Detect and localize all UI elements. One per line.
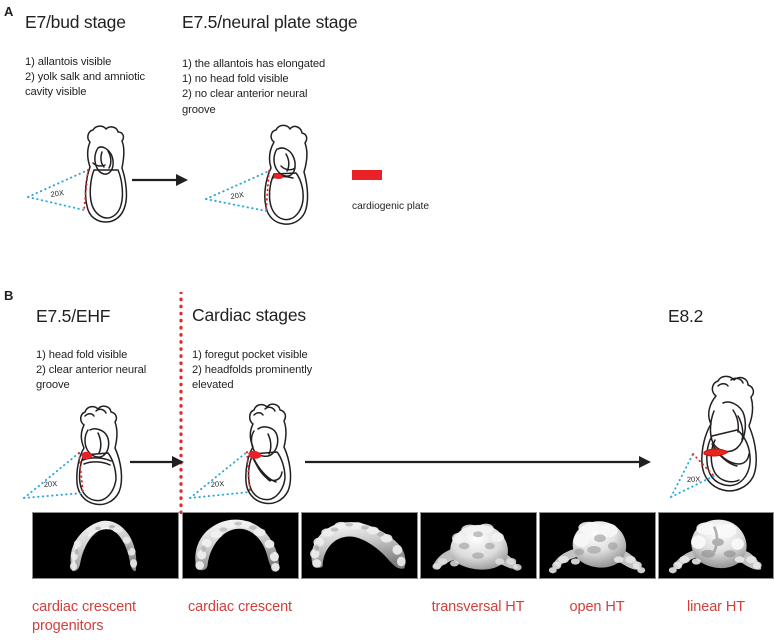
cardiogenic-plate-swatch	[352, 170, 382, 180]
micrograph-label-4: transversal HT	[432, 598, 525, 617]
micrograph-image-3	[302, 513, 417, 578]
magnification-label-b1: 20X	[44, 479, 58, 489]
cardiogenic-plate-marker-embryo-b2	[249, 451, 261, 458]
micrograph-panel-5[interactable]	[539, 512, 656, 579]
panel-b-stage-title-2: Cardiac stages	[192, 305, 306, 326]
panel-b-stage-title-1: E7.5/EHF	[36, 306, 110, 327]
panel-letter-b: B	[4, 288, 13, 303]
panel-a-notes-2: 1) the allantois has elongated 1) no hea…	[182, 57, 357, 118]
embryo-diagram-e82: 20X	[638, 366, 774, 511]
micrograph-label-5: open HT	[570, 598, 625, 617]
micrograph-panel-3[interactable]	[301, 512, 418, 579]
cardiogenic-plate-legend-label: cardiogenic plate	[352, 201, 429, 212]
arrow-b-1	[128, 452, 186, 472]
embryo-diagram-e75-neural-plate: 20X	[198, 118, 378, 233]
micrograph-image-1	[33, 513, 178, 578]
magnification-label-b2: 20X	[211, 479, 225, 489]
figure-canvas: A E7/bud stage E7.5/neural plate stage 1…	[0, 0, 774, 640]
micrograph-panel-4[interactable]	[420, 512, 537, 579]
panel-a-notes-1: 1) allantois visible 2) yolk salk and am…	[25, 55, 175, 101]
magnification-label-a1: 20X	[50, 188, 65, 199]
panel-b-stage-title-3: E8.2	[668, 306, 703, 327]
micrograph-image-5	[540, 513, 655, 578]
panel-a-stage-title-2: E7.5/neural plate stage	[182, 12, 357, 33]
magnification-label-b3: 20X	[687, 475, 701, 484]
panel-b-notes-1: 1) head fold visible 2) clear anterior n…	[36, 348, 186, 394]
micrograph-image-4	[421, 513, 536, 578]
linear-heart-tube-marker	[704, 449, 728, 456]
micrograph-image-2	[183, 513, 298, 578]
micrograph-label-2: cardiac crescent	[188, 598, 292, 617]
micrograph-panel-6[interactable]	[658, 512, 774, 579]
micrograph-label-6: linear HT	[687, 598, 745, 617]
arrow-b-2-long	[303, 452, 653, 472]
arrow-a-1	[130, 170, 190, 190]
micrograph-image-6	[659, 513, 773, 578]
magnification-label-a2: 20X	[230, 190, 245, 201]
micrograph-panel-1[interactable]	[32, 512, 179, 579]
micrograph-label-1: cardiac crescent progenitors	[32, 598, 136, 636]
micrograph-panel-2[interactable]	[182, 512, 299, 579]
panel-letter-a: A	[4, 4, 13, 19]
panel-b-notes-2: 1) foregut pocket visible 2) headfolds p…	[192, 348, 357, 394]
panel-a-stage-title-1: E7/bud stage	[25, 12, 126, 33]
